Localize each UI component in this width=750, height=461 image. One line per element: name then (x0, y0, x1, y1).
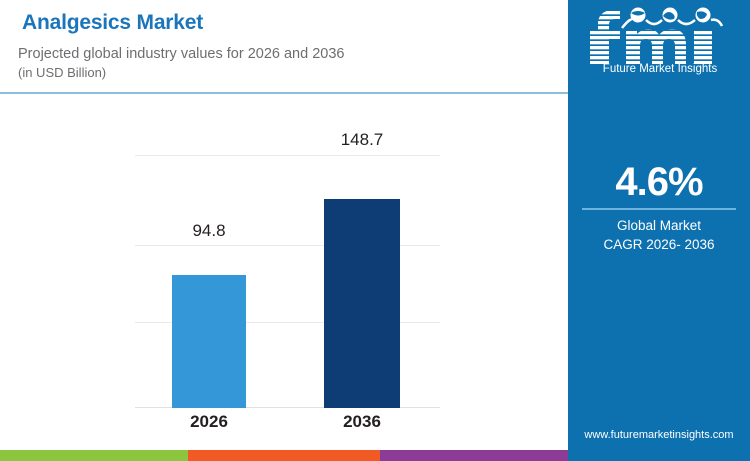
website-url[interactable]: www.futuremarketinsights.com (568, 429, 750, 441)
page-title: Analgesics Market (22, 11, 203, 35)
bar-value-2036: 148.7 (324, 130, 400, 150)
bar-chart (135, 155, 440, 408)
gridline-top (135, 155, 440, 156)
bar-2036 (324, 199, 400, 408)
strip-segment-purple (380, 450, 568, 461)
bar-label-2036: 2036 (324, 412, 400, 432)
subtitle-line-2: (in USD Billion) (18, 65, 106, 80)
cagr-caption-line-2: CAGR 2026- 2036 (568, 237, 750, 252)
cagr-caption-line-1: Global Market (568, 218, 750, 233)
fmi-tagline: Future Market Insights (586, 63, 734, 75)
sidebar-panel: Future Market Insights 4.6% Global Marke… (568, 0, 750, 450)
fmi-logo: Future Market Insights (586, 6, 734, 84)
bar-label-2026: 2026 (172, 412, 246, 432)
cagr-value: 4.6% (568, 160, 750, 205)
globe-icons (622, 7, 722, 28)
infographic-page: Analgesics Market Projected global indus… (0, 0, 750, 461)
left-content-panel: Analgesics Market Projected global indus… (0, 0, 568, 450)
fmi-logo-mark (586, 6, 734, 64)
bar-2026 (172, 275, 246, 408)
bar-value-2026: 94.8 (172, 221, 246, 241)
strip-segment-orange (188, 450, 380, 461)
cagr-divider (582, 208, 736, 210)
subtitle-line-1: Projected global industry values for 202… (18, 46, 344, 62)
footer-color-strip (0, 450, 750, 461)
strip-segment-blue (568, 450, 750, 461)
header-divider (0, 92, 568, 94)
strip-segment-green (0, 450, 188, 461)
